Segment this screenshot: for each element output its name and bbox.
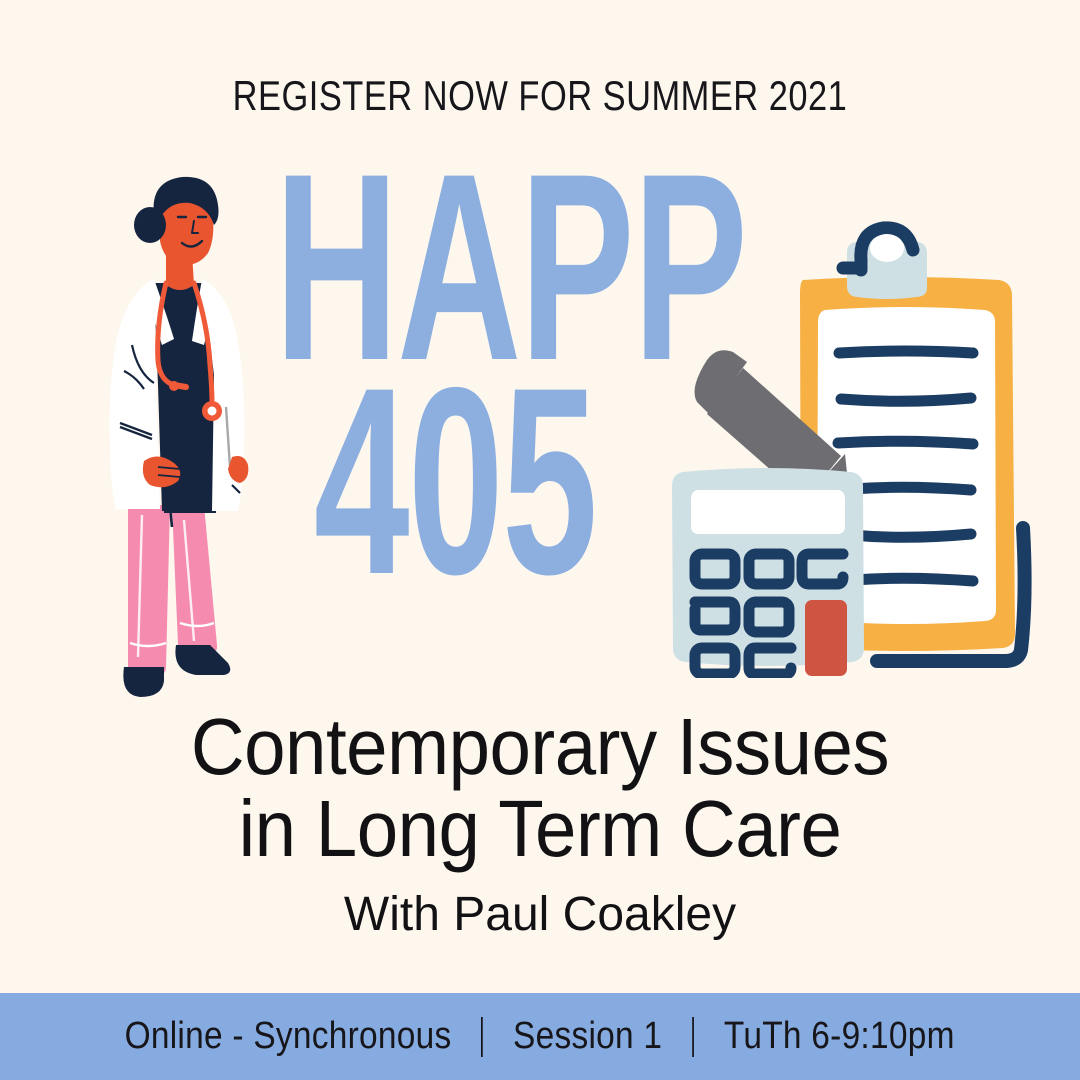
desk-illustration bbox=[655, 218, 1055, 678]
banner-schedule: TuTh 6-9:10pm bbox=[724, 1015, 955, 1058]
banner-session: Session 1 bbox=[513, 1015, 662, 1058]
course-title-line-1: Contemporary Issues bbox=[38, 706, 1042, 788]
doctor-illustration bbox=[62, 175, 292, 705]
info-banner: Online - Synchronous Session 1 TuTh 6-9:… bbox=[0, 993, 1080, 1080]
calculator-display bbox=[691, 490, 845, 534]
banner-separator-1 bbox=[482, 1017, 484, 1057]
course-code: HAPP 405 bbox=[240, 178, 670, 573]
course-poster: REGISTER NOW FOR SUMMER 2021 bbox=[0, 0, 1080, 1080]
calculator bbox=[672, 468, 864, 676]
doctor-figure bbox=[110, 177, 249, 697]
course-code-dept: HAPP bbox=[274, 151, 635, 386]
banner-separator-2 bbox=[693, 1017, 695, 1057]
instructor-name: With Paul Coakley bbox=[0, 887, 1080, 942]
registration-callout: REGISTER NOW FOR SUMMER 2021 bbox=[97, 72, 983, 120]
info-banner-inner: Online - Synchronous Session 1 TuTh 6-9:… bbox=[125, 1015, 955, 1058]
course-title-line-2: in Long Term Care bbox=[38, 788, 1042, 870]
calculator-equals-key bbox=[805, 600, 847, 676]
banner-modality: Online - Synchronous bbox=[125, 1015, 452, 1058]
course-code-number: 405 bbox=[274, 365, 635, 600]
title-block: Contemporary Issues in Long Term Care Wi… bbox=[0, 706, 1080, 942]
